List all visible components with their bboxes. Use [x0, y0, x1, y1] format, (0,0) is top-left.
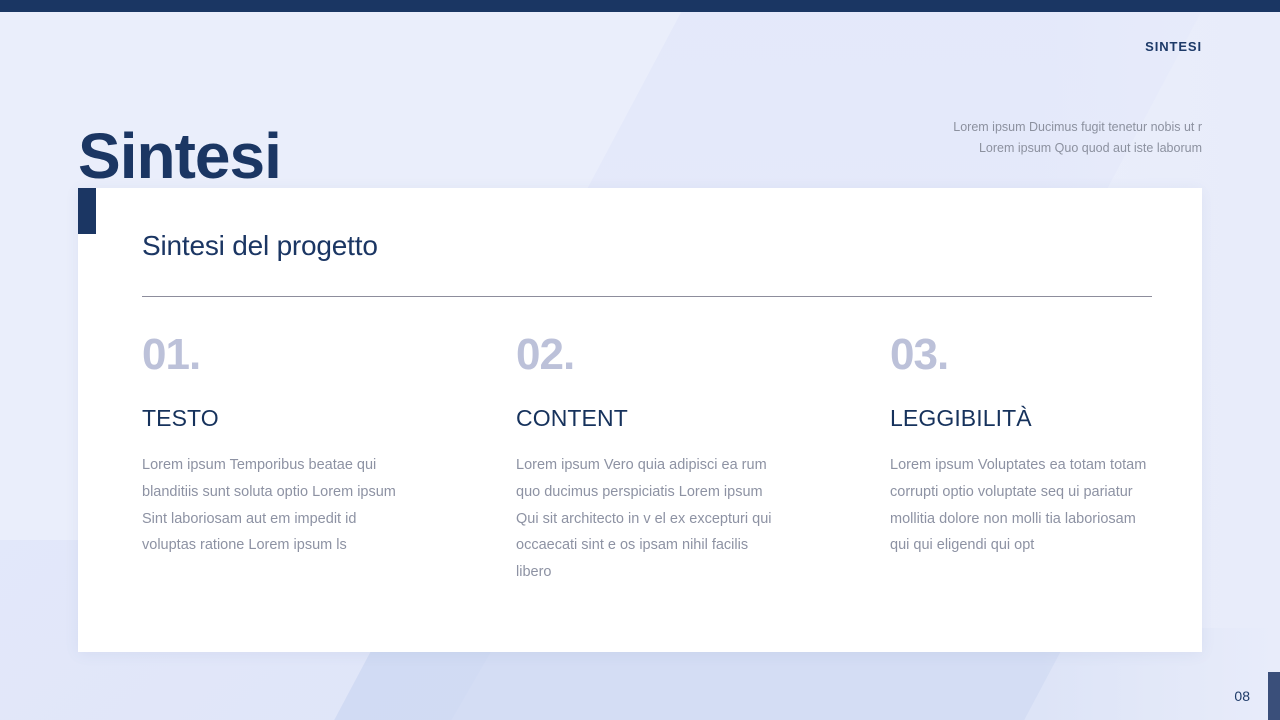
card-heading: Sintesi del progetto [142, 230, 378, 262]
feature-column: 02. CONTENT Lorem ipsum Vero quia adipis… [516, 333, 780, 586]
header-note-line-2: Lorem ipsum Quo quod aut iste laborum [953, 138, 1202, 159]
feature-column: 01. TESTO Lorem ipsum Temporibus beatae … [142, 333, 406, 586]
content-card: Sintesi del progetto 01. TESTO Lorem ips… [78, 188, 1202, 652]
feature-column: 03. LEGGIBILITÀ Lorem ipsum Voluptates e… [890, 333, 1154, 586]
feature-columns: 01. TESTO Lorem ipsum Temporibus beatae … [142, 333, 1154, 586]
feature-title: LEGGIBILITÀ [890, 405, 1154, 432]
feature-number: 03. [890, 333, 1154, 377]
feature-title: TESTO [142, 405, 406, 432]
section-eyebrow-label: SINTESI [1145, 39, 1202, 54]
feature-number: 02. [516, 333, 780, 377]
top-accent-bar [0, 0, 1280, 12]
page-number: 08 [1234, 688, 1250, 704]
header-notes: Lorem ipsum Ducimus fugit tenetur nobis … [953, 117, 1202, 159]
feature-body: Lorem ipsum Voluptates ea totam totam co… [890, 452, 1154, 559]
feature-title: CONTENT [516, 405, 780, 432]
feature-body: Lorem ipsum Vero quia adipisci ea rum qu… [516, 452, 780, 586]
footer-accent-tab [1268, 672, 1280, 720]
card-accent-bar [78, 188, 96, 234]
header-note-line-1: Lorem ipsum Ducimus fugit tenetur nobis … [953, 117, 1202, 138]
card-divider [142, 296, 1152, 297]
feature-number: 01. [142, 333, 406, 377]
slide-title: Sintesi [78, 122, 281, 191]
feature-body: Lorem ipsum Temporibus beatae qui blandi… [142, 452, 406, 559]
